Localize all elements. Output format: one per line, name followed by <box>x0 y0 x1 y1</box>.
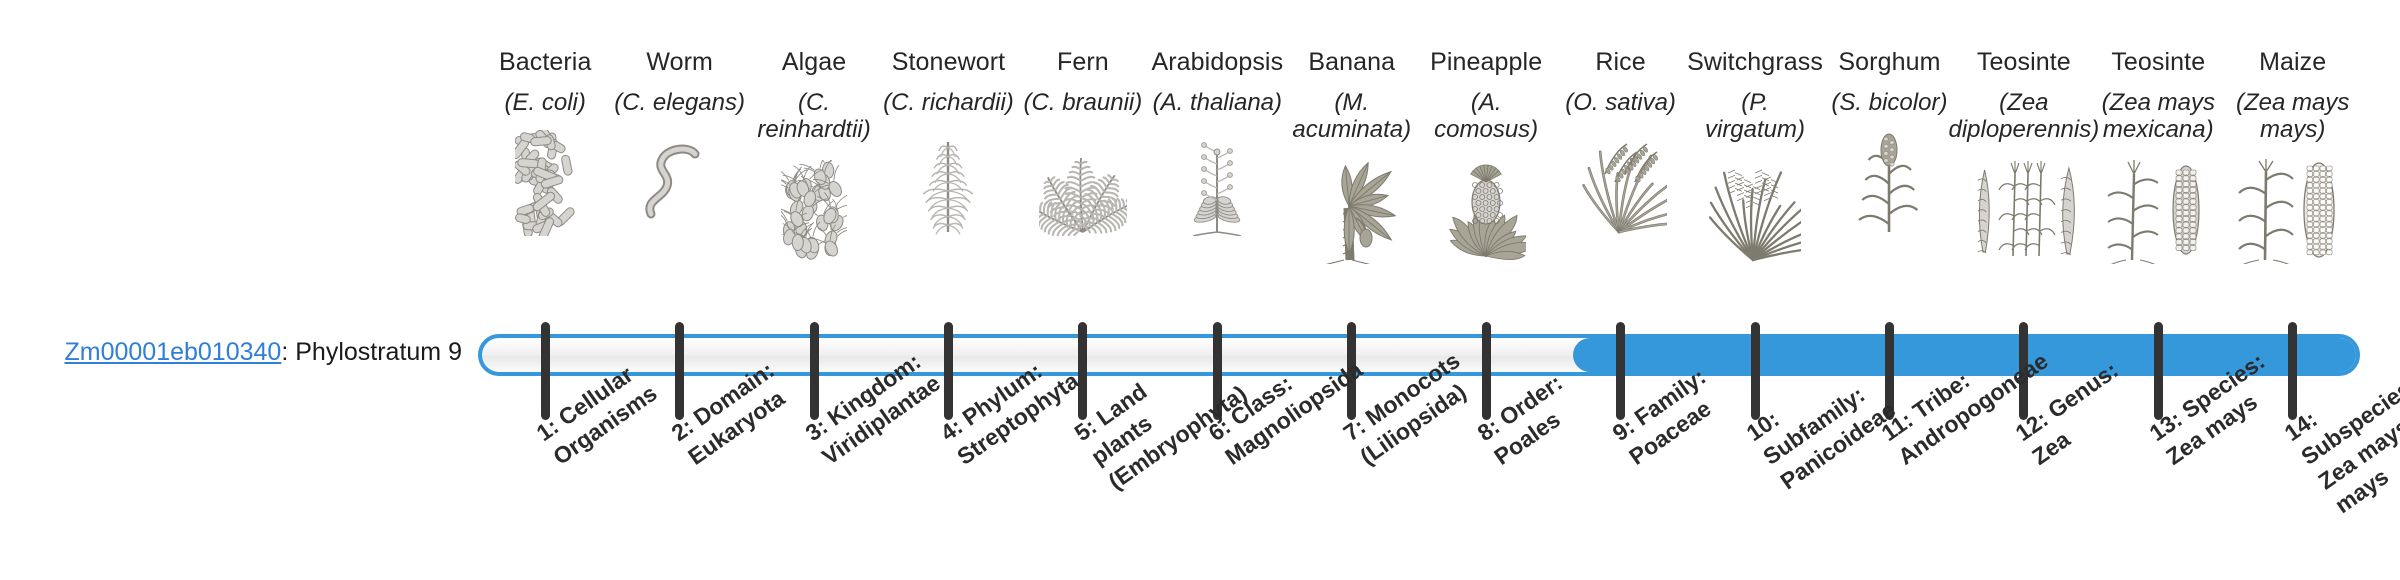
teosinte-ears-icon <box>1957 154 2091 264</box>
species-column-12: Teosinte(Zea diploperennis) <box>1957 48 2091 264</box>
pineapple-plant-icon <box>1419 154 1553 264</box>
species-column-1: Bacteria(E. coli) <box>478 48 612 236</box>
species-common-name: Maize <box>2259 48 2326 76</box>
teosinte-plant-ear-icon <box>2091 154 2225 264</box>
species-common-name: Teosinte <box>2111 48 2205 76</box>
fern-frond-icon <box>1016 126 1150 236</box>
species-scientific-name: (A. thaliana) <box>1152 89 1283 116</box>
species-scientific-name: (C. elegans) <box>613 89 746 116</box>
gene-caption: Zm00001eb010340: Phylostratum 9 <box>32 337 462 367</box>
species-scientific-name: (Zea diploperennis) <box>1947 89 2100 144</box>
species-column-7: Banana(M. acuminata) <box>1285 48 1419 264</box>
species-column-14: Maize(Zea mays mays) <box>2225 48 2359 264</box>
species-column-4: Stonewort(C. richardii) <box>881 48 1015 236</box>
sorghum-plant-icon <box>1822 126 1956 236</box>
species-column-13: Teosinte(Zea mays mexicana) <box>2091 48 2225 264</box>
species-scientific-name: (Zea mays mexicana) <box>2091 89 2225 144</box>
species-scientific-name: (C. richardii) <box>882 89 1015 116</box>
stonewort-alga-icon <box>881 126 1015 236</box>
species-common-name: Rice <box>1595 48 1645 76</box>
species-scientific-name: (E. coli) <box>504 89 587 116</box>
species-scientific-name: (Zea mays mays) <box>2225 89 2359 144</box>
phylostratum-value: Phylostratum 9 <box>295 338 462 366</box>
species-common-name: Worm <box>646 48 713 76</box>
species-common-name: Arabidopsis <box>1151 48 1283 76</box>
species-column-3: Algae(C. reinhardtii) <box>747 48 881 264</box>
species-scientific-name: (O. sativa) <box>1564 89 1677 116</box>
species-column-5: Fern(C. braunii) <box>1016 48 1150 236</box>
species-common-name: Banana <box>1308 48 1395 76</box>
bacteria-rods-icon <box>478 126 612 236</box>
species-column-11: Sorghum(S. bicolor) <box>1822 48 1956 236</box>
species-scientific-name: (M. acuminata) <box>1285 89 1419 144</box>
switchgrass-plant-icon <box>1688 154 1822 264</box>
species-column-8: Pineapple(A. comosus) <box>1419 48 1553 264</box>
species-common-name: Teosinte <box>1977 48 2071 76</box>
arabidopsis-plant-icon <box>1150 126 1284 236</box>
phylostratigraphy-figure: Bacteria(E. coli)Worm(C. elegans)Algae(C… <box>0 0 2400 580</box>
species-column-6: Arabidopsis(A. thaliana) <box>1150 48 1284 236</box>
species-common-name: Sorghum <box>1838 48 1940 76</box>
species-common-name: Bacteria <box>499 48 592 76</box>
green-algae-cells-icon <box>747 154 881 264</box>
species-common-name: Pineapple <box>1430 48 1542 76</box>
species-column-9: Rice(O. sativa) <box>1553 48 1687 236</box>
species-scientific-name: (S. bicolor) <box>1830 89 1948 116</box>
species-common-name: Switchgrass <box>1687 48 1823 76</box>
caption-separator: : <box>281 338 295 366</box>
gene-id-link[interactable]: Zm00001eb010340 <box>64 338 281 366</box>
species-common-name: Stonewort <box>892 48 1005 76</box>
maize-plant-cob-icon <box>2225 154 2359 264</box>
banana-tree-icon <box>1285 154 1419 264</box>
species-column-2: Worm(C. elegans) <box>612 48 746 236</box>
taxonomic-rank-label-group: 1: Cellular Organisms2: Domain: Eukaryot… <box>478 424 2360 580</box>
species-scientific-name: (C. reinhardtii) <box>747 89 881 144</box>
species-header-row: Bacteria(E. coli)Worm(C. elegans)Algae(C… <box>478 48 2360 310</box>
nematode-worm-icon <box>612 126 746 236</box>
species-common-name: Algae <box>782 48 846 76</box>
species-scientific-name: (P. virgatum) <box>1688 89 1822 144</box>
species-scientific-name: (A. comosus) <box>1419 89 1553 144</box>
species-scientific-name: (C. braunii) <box>1023 89 1144 116</box>
species-column-10: Switchgrass(P. virgatum) <box>1688 48 1822 264</box>
species-common-name: Fern <box>1057 48 1109 76</box>
rice-plant-icon <box>1553 126 1687 236</box>
